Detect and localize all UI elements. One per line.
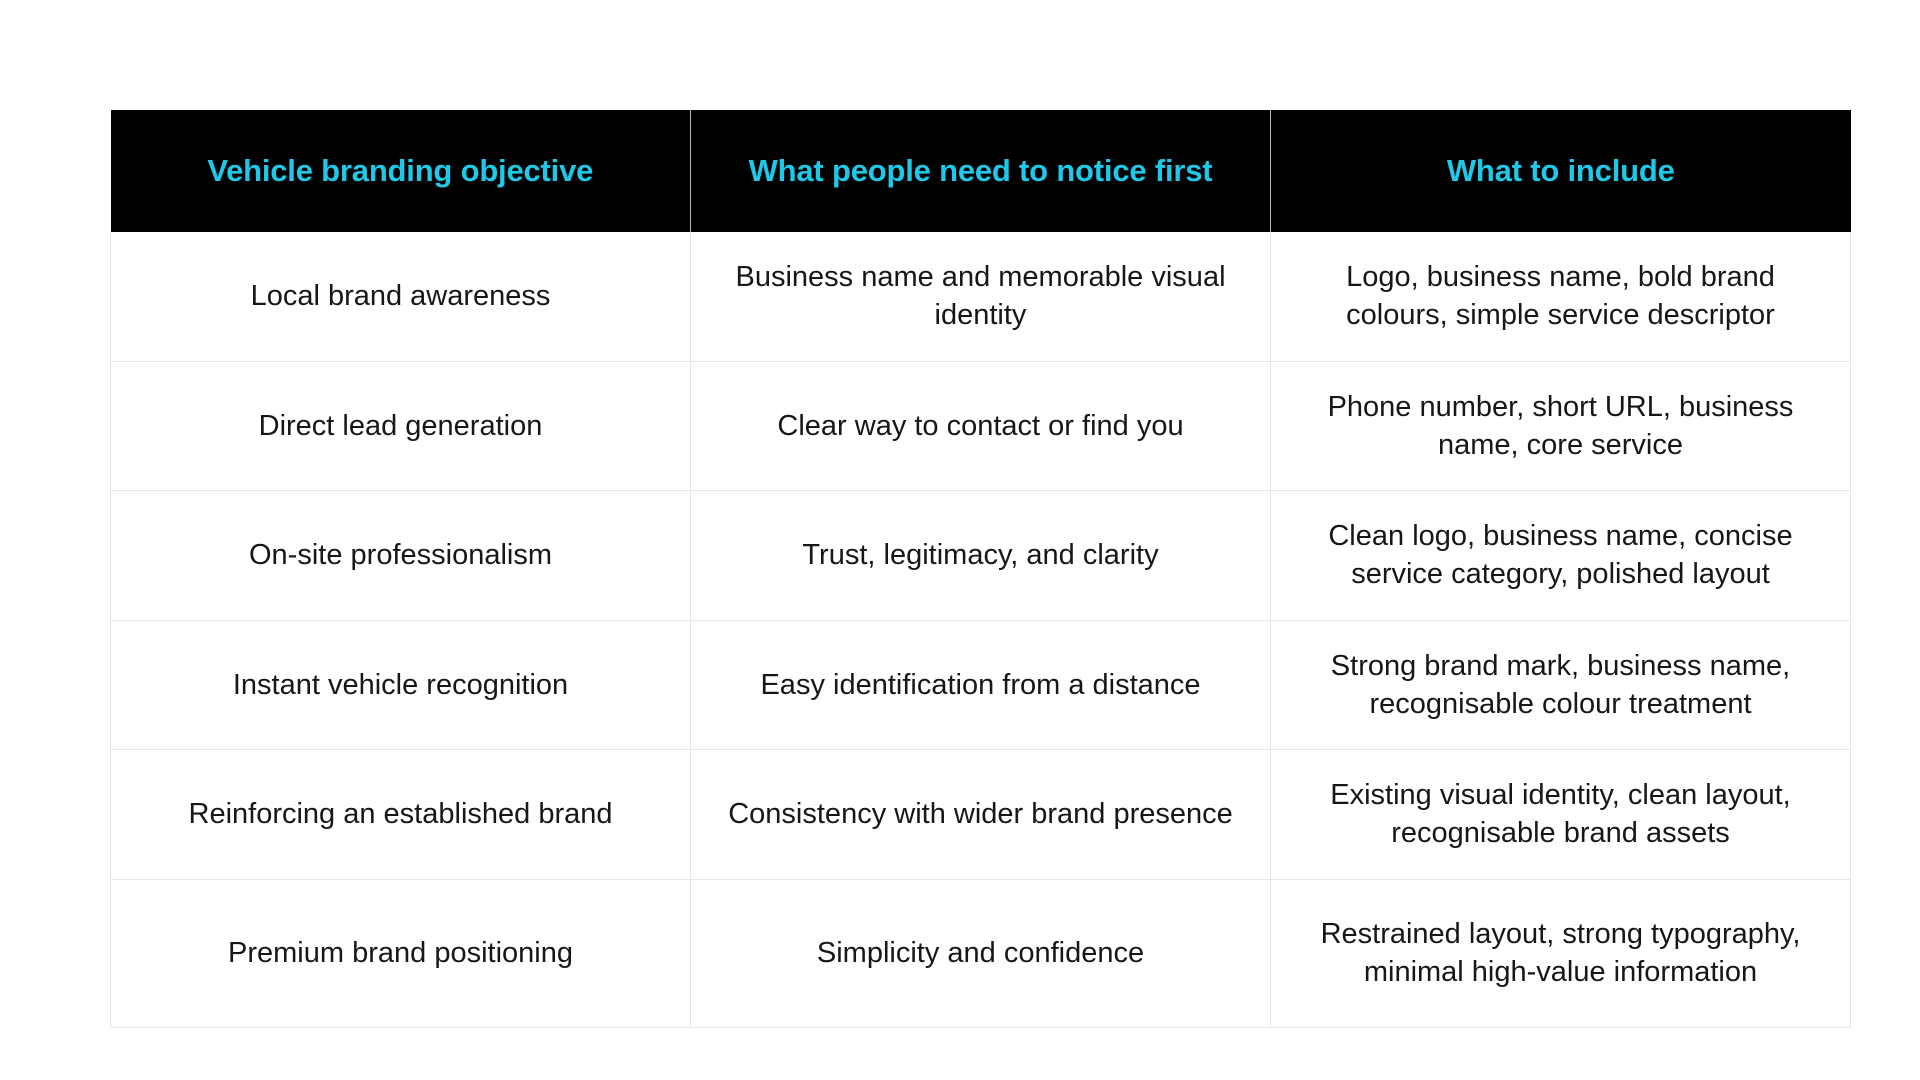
cell-notice-first: Trust, legitimacy, and clarity bbox=[691, 491, 1271, 621]
objectives-table-container: Vehicle branding objective What people n… bbox=[110, 110, 1850, 1028]
cell-what-to-include: Phone number, short URL, business name, … bbox=[1271, 361, 1851, 491]
table-row: Local brand awareness Business name and … bbox=[111, 232, 1851, 361]
cell-notice-first: Clear way to contact or find you bbox=[691, 361, 1271, 491]
cell-objective: Reinforcing an established brand bbox=[111, 750, 691, 880]
cell-what-to-include: Clean logo, business name, concise servi… bbox=[1271, 491, 1851, 621]
cell-notice-first: Simplicity and confidence bbox=[691, 879, 1271, 1027]
cell-notice-first: Business name and memorable visual ident… bbox=[691, 232, 1271, 361]
cell-objective: Local brand awareness bbox=[111, 232, 691, 361]
vehicle-branding-objectives-table: Vehicle branding objective What people n… bbox=[110, 110, 1851, 1028]
table-header-row: Vehicle branding objective What people n… bbox=[111, 110, 1851, 232]
cell-objective: Instant vehicle recognition bbox=[111, 620, 691, 750]
column-header-objective: Vehicle branding objective bbox=[111, 110, 691, 232]
cell-what-to-include: Restrained layout, strong typography, mi… bbox=[1271, 879, 1851, 1027]
cell-notice-first: Easy identification from a distance bbox=[691, 620, 1271, 750]
cell-what-to-include: Existing visual identity, clean layout, … bbox=[1271, 750, 1851, 880]
cell-objective: On-site professionalism bbox=[111, 491, 691, 621]
table-body: Local brand awareness Business name and … bbox=[111, 232, 1851, 1027]
table-header: Vehicle branding objective What people n… bbox=[111, 110, 1851, 232]
table-row: Direct lead generation Clear way to cont… bbox=[111, 361, 1851, 491]
column-header-notice-first: What people need to notice first bbox=[691, 110, 1271, 232]
cell-objective: Premium brand positioning bbox=[111, 879, 691, 1027]
cell-what-to-include: Logo, business name, bold brand colours,… bbox=[1271, 232, 1851, 361]
table-row: Instant vehicle recognition Easy identif… bbox=[111, 620, 1851, 750]
table-row: On-site professionalism Trust, legitimac… bbox=[111, 491, 1851, 621]
column-header-what-to-include: What to include bbox=[1271, 110, 1851, 232]
cell-objective: Direct lead generation bbox=[111, 361, 691, 491]
cell-notice-first: Consistency with wider brand presence bbox=[691, 750, 1271, 880]
cell-what-to-include: Strong brand mark, business name, recogn… bbox=[1271, 620, 1851, 750]
table-row: Premium brand positioning Simplicity and… bbox=[111, 879, 1851, 1027]
page-root: Vehicle branding objective What people n… bbox=[0, 0, 1920, 1080]
table-row: Reinforcing an established brand Consist… bbox=[111, 750, 1851, 880]
